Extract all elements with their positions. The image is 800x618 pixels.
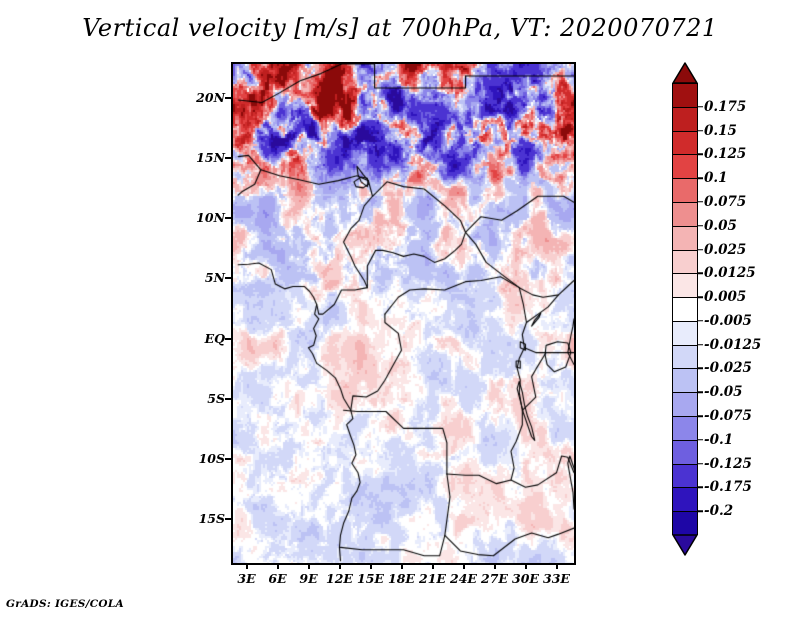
colorbar-tick [698, 320, 703, 322]
y-tick-mark [225, 157, 231, 159]
y-tick-label: 20N [196, 90, 225, 105]
map-plot-area [231, 62, 576, 565]
x-tick-mark [525, 563, 527, 569]
y-tick-mark [225, 398, 231, 400]
colorbar-band [673, 417, 697, 441]
colorbar-band [673, 298, 697, 322]
colorbar-band [673, 203, 697, 227]
colorbar-tick-label: 0.005 [704, 289, 746, 305]
colorbar-band [673, 393, 697, 417]
x-tick-mark [339, 563, 341, 569]
colorbar-tick-label: -0.05 [704, 384, 742, 400]
x-tick-label: 18E [388, 571, 415, 586]
colorbar-tick-label: 0.075 [704, 194, 746, 210]
colorbar-tick-label: -0.025 [704, 360, 752, 376]
y-tick-label: 10S [199, 451, 225, 466]
colorbar-band [673, 346, 697, 370]
x-tick-mark [463, 563, 465, 569]
x-tick-mark [277, 563, 279, 569]
colorbar-tick [698, 487, 703, 489]
x-tick-label: 9E [299, 571, 317, 586]
colorbar-tick [698, 201, 703, 203]
colorbar-tick [698, 130, 703, 132]
x-tick-label: 12E [326, 571, 353, 586]
colorbar-band [673, 488, 697, 512]
colorbar-tick [698, 392, 703, 394]
colorbar-band [673, 322, 697, 346]
x-tick-label: 6E [268, 571, 286, 586]
x-tick-label: 33E [543, 571, 570, 586]
colorbar-tick [698, 273, 703, 275]
y-tick-label: EQ [205, 331, 225, 346]
colorbar-band [673, 251, 697, 275]
colorbar-band [673, 441, 697, 465]
colorbar-tick [698, 249, 703, 251]
colorbar-band [673, 155, 697, 179]
colorbar-bands [672, 83, 698, 535]
x-tick-mark [494, 563, 496, 569]
colorbar-tick-label: -0.1 [704, 432, 733, 448]
colorbar-over-arrow-icon [672, 62, 698, 84]
colorbar-tick [698, 106, 703, 108]
y-tick-label: 10N [196, 210, 225, 225]
y-tick-mark [225, 277, 231, 279]
colorbar-tick-label: -0.2 [704, 503, 733, 519]
colorbar-band [673, 465, 697, 489]
colorbar-tick-label: 0.125 [704, 146, 746, 162]
colorbar-tick-label: -0.125 [704, 456, 752, 472]
x-tick-label: 30E [512, 571, 539, 586]
colorbar-tick [698, 439, 703, 441]
colorbar-band [673, 132, 697, 156]
colorbar-tick [698, 415, 703, 417]
colorbar-tick-label: 0.025 [704, 242, 746, 258]
colorbar-tick-label: 0.175 [704, 99, 746, 115]
x-tick-label: 21E [419, 571, 446, 586]
colorbar-tick-label: -0.0125 [704, 337, 761, 353]
y-tick-mark [225, 458, 231, 460]
x-tick-label: 27E [481, 571, 508, 586]
colorbar-band [673, 512, 697, 536]
x-tick-mark [370, 563, 372, 569]
coastline-border-overlay [233, 64, 574, 563]
y-tick-mark [225, 518, 231, 520]
y-tick-mark [225, 217, 231, 219]
colorbar-tick [698, 463, 703, 465]
page-title: Vertical velocity [m/s] at 700hPa, VT: 2… [0, 14, 800, 42]
y-tick-label: 5S [207, 391, 225, 406]
colorbar-tick-label: 0.15 [704, 123, 737, 139]
colorbar-tick [698, 296, 703, 298]
colorbar-under-arrow-icon [672, 534, 698, 556]
x-tick-mark [432, 563, 434, 569]
y-tick-label: 15S [199, 511, 225, 526]
colorbar-tick [698, 344, 703, 346]
colorbar-tick-label: 0.05 [704, 218, 737, 234]
colorbar-tick [698, 225, 703, 227]
colorbar-band [673, 108, 697, 132]
y-tick-label: 5N [205, 270, 225, 285]
colorbar-band [673, 227, 697, 251]
colorbar-tick [698, 368, 703, 370]
y-tick-mark [225, 338, 231, 340]
colorbar-tick [698, 510, 703, 512]
y-tick-label: 15N [196, 150, 225, 165]
x-tick-mark [246, 563, 248, 569]
y-axis-latitude: 20N15N10N5NEQ5S10S15S [170, 62, 225, 561]
colorbar-tick-label: -0.075 [704, 408, 752, 424]
colorbar-band [673, 179, 697, 203]
colorbar-band [673, 84, 697, 108]
attribution-footer: GrADS: IGES/COLA [6, 598, 124, 610]
colorbar-band [673, 369, 697, 393]
x-tick-mark [308, 563, 310, 569]
colorbar-band [673, 274, 697, 298]
colorbar-tick-label: -0.175 [704, 479, 752, 495]
y-tick-mark [225, 97, 231, 99]
colorbar-tick [698, 177, 703, 179]
x-tick-mark [556, 563, 558, 569]
x-tick-label: 15E [357, 571, 384, 586]
colorbar-tick-label: -0.005 [704, 313, 752, 329]
x-axis-longitude: 3E6E9E12E15E18E21E24E27E30E33E [231, 563, 572, 591]
x-tick-label: 24E [450, 571, 477, 586]
colorbar-tick [698, 154, 703, 156]
x-tick-label: 3E [237, 571, 255, 586]
colorbar-tick-label: 0.0125 [704, 265, 756, 281]
x-tick-mark [401, 563, 403, 569]
grads-plot-page: Vertical velocity [m/s] at 700hPa, VT: 2… [0, 0, 800, 618]
colorbar-legend: 0.1750.150.1250.10.0750.050.0250.01250.0… [672, 62, 698, 556]
colorbar-tick-label: 0.1 [704, 170, 728, 186]
